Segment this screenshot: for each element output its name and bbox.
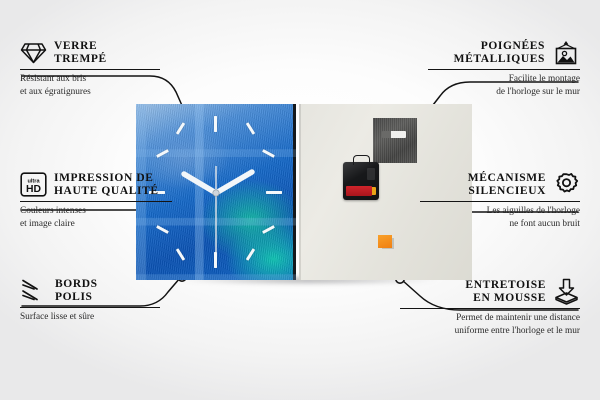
- feature-title-line2: SILENCIEUX: [468, 185, 546, 198]
- feature-title-line1: IMPRESSION DE: [54, 172, 159, 185]
- feature-header: VERRE TREMPÉ: [20, 40, 160, 66]
- diamond-icon: [20, 41, 47, 65]
- feature-desc-line1: Surface lisse et sûre: [20, 311, 160, 323]
- feature-header: ENTRETOISE EN MOUSSE: [400, 278, 580, 305]
- feature-entretoise-en-mousse: ENTRETOISE EN MOUSSE Permet de maintenir…: [400, 278, 580, 337]
- feature-title-line2: TREMPÉ: [54, 53, 107, 66]
- foam-spacer: [378, 235, 392, 248]
- minute-hand: [216, 172, 252, 193]
- ultra-hd-icon: ultra HD: [20, 172, 47, 197]
- feature-rule: [20, 69, 160, 70]
- feature-desc: Surface lisse et sûre: [20, 311, 160, 323]
- feature-title-line1: POIGNÉES: [454, 40, 545, 53]
- hanger-slot: [382, 131, 406, 138]
- feature-header: POIGNÉES MÉTALLIQUES: [428, 40, 580, 66]
- feature-impression-haute-qualite: ultra HD IMPRESSION DE HAUTE QUALITÉ Cou…: [20, 172, 172, 230]
- feature-title-line2: MÉTALLIQUES: [454, 53, 545, 66]
- feature-rule: [400, 308, 580, 309]
- feature-desc: Couleurs intenses et image claire: [20, 205, 172, 230]
- feature-titles: MÉCANISME SILENCIEUX: [468, 172, 546, 198]
- clock-mechanism: [343, 162, 379, 200]
- feature-title-line1: ENTRETOISE: [465, 279, 546, 292]
- feature-header: MÉCANISME SILENCIEUX: [420, 172, 580, 198]
- spacer-arrow-icon: [553, 278, 580, 305]
- hour-hand: [184, 174, 216, 193]
- metal-hanger-plate: [373, 118, 417, 163]
- feature-desc-line1: Facilite le montage: [428, 73, 580, 85]
- hanging-frame-icon: [552, 40, 580, 66]
- feature-desc-line1: Permet de maintenir une distance: [400, 312, 580, 324]
- feature-title-line1: BORDS: [55, 278, 98, 291]
- feature-mecanisme-silencieux: MÉCANISME SILENCIEUX Les aiguilles de l'…: [420, 172, 580, 230]
- feature-rule: [420, 201, 580, 202]
- polished-edges-icon: [20, 279, 48, 302]
- infographic-canvas: VERRE TREMPÉ Résistant aux bris et aux é…: [0, 0, 600, 400]
- feature-title-line2: POLIS: [55, 291, 98, 304]
- feature-title-line2: EN MOUSSE: [465, 292, 546, 305]
- feature-desc-line2: uniforme entre l'horloge et le mur: [400, 325, 580, 337]
- feature-titles: VERRE TREMPÉ: [54, 40, 107, 66]
- feature-title-line1: MÉCANISME: [468, 172, 546, 185]
- feature-header: BORDS POLIS: [20, 278, 160, 304]
- feature-rule: [20, 201, 172, 202]
- feature-header: ultra HD IMPRESSION DE HAUTE QUALITÉ: [20, 172, 172, 198]
- feature-bords-polis: BORDS POLIS Surface lisse et sûre: [20, 278, 160, 324]
- ultra-hd-large-label: HD: [26, 185, 42, 196]
- mechanism-hook: [353, 155, 370, 165]
- battery: [346, 186, 372, 196]
- feature-titles: BORDS POLIS: [55, 278, 98, 304]
- feature-desc: Facilite le montage de l'horloge sur le …: [428, 73, 580, 98]
- feature-desc-line2: et image claire: [20, 218, 172, 230]
- hands-hub: [213, 190, 219, 196]
- feature-verre-trempe: VERRE TREMPÉ Résistant aux bris et aux é…: [20, 40, 160, 98]
- feature-desc: Résistant aux bris et aux égratignures: [20, 73, 160, 98]
- feature-title-line1: VERRE: [54, 40, 107, 53]
- feature-rule: [428, 69, 580, 70]
- feature-desc-line1: Les aiguilles de l'horloge: [420, 205, 580, 217]
- feature-titles: POIGNÉES MÉTALLIQUES: [454, 40, 545, 66]
- feature-desc-line1: Résistant aux bris: [20, 73, 160, 85]
- feature-desc-line1: Couleurs intenses: [20, 205, 172, 217]
- feature-desc: Les aiguilles de l'horloge ne font aucun…: [420, 205, 580, 230]
- feature-desc-line2: et aux égratignures: [20, 86, 160, 98]
- feature-desc: Permet de maintenir une distance uniform…: [400, 312, 580, 337]
- feature-titles: IMPRESSION DE HAUTE QUALITÉ: [54, 172, 159, 198]
- feature-title-line2: HAUTE QUALITÉ: [54, 185, 159, 198]
- gear-icon: [553, 172, 580, 198]
- feature-poignees-metalliques: POIGNÉES MÉTALLIQUES Facilite le montage…: [428, 40, 580, 98]
- feature-desc-line2: de l'horloge sur le mur: [428, 86, 580, 98]
- feature-titles: ENTRETOISE EN MOUSSE: [465, 279, 546, 305]
- feature-rule: [20, 307, 160, 308]
- feature-desc-line2: ne font aucun bruit: [420, 218, 580, 230]
- mechanism-detail: [367, 168, 375, 180]
